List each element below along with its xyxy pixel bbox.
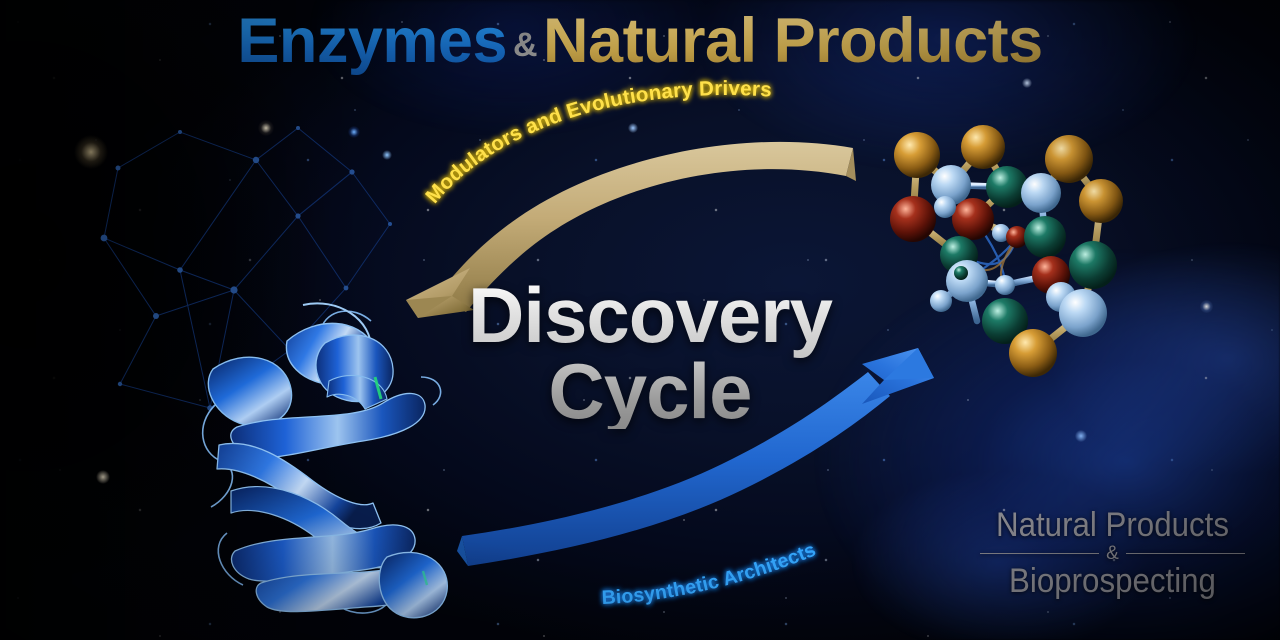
journal-ampersand: & (1106, 544, 1119, 563)
glow-star (96, 470, 110, 484)
glow-star (628, 123, 638, 133)
arrow-bottom-label-text: Biosynthetic Architects (601, 539, 819, 609)
journal-line-1: Natural Products (991, 508, 1235, 543)
svg-text:Modulators and Evolutionary Dr: Modulators and Evolutionary Drivers (421, 77, 773, 208)
glow-star (1075, 430, 1087, 442)
journal-divider: & (980, 544, 1245, 563)
title-enzymes: Enzymes (237, 6, 507, 76)
center-heading: Discovery Cycle (410, 278, 890, 429)
ball-and-stick-molecule (855, 115, 1135, 415)
glow-star (1022, 78, 1032, 88)
main-title: Enzymes&Natural Products (0, 8, 1280, 74)
journal-rule-left (980, 553, 1099, 554)
title-natural-products: Natural Products (543, 6, 1043, 76)
svg-text:Biosynthetic Architects: Biosynthetic Architects (601, 539, 819, 609)
center-heading-line2: Cycle (410, 354, 890, 430)
cover-artwork: Enzymes&Natural Products Discovery Cycle… (0, 0, 1280, 640)
title-ampersand: & (507, 26, 543, 64)
journal-logo: Natural Products & Bioprospecting (980, 508, 1245, 598)
center-heading-line1: Discovery (410, 278, 890, 354)
arrow-top-label-text: Modulators and Evolutionary Drivers (421, 77, 773, 208)
journal-rule-right (1126, 553, 1245, 554)
glow-star (1200, 300, 1213, 313)
journal-line-2: Bioprospecting (991, 564, 1235, 599)
